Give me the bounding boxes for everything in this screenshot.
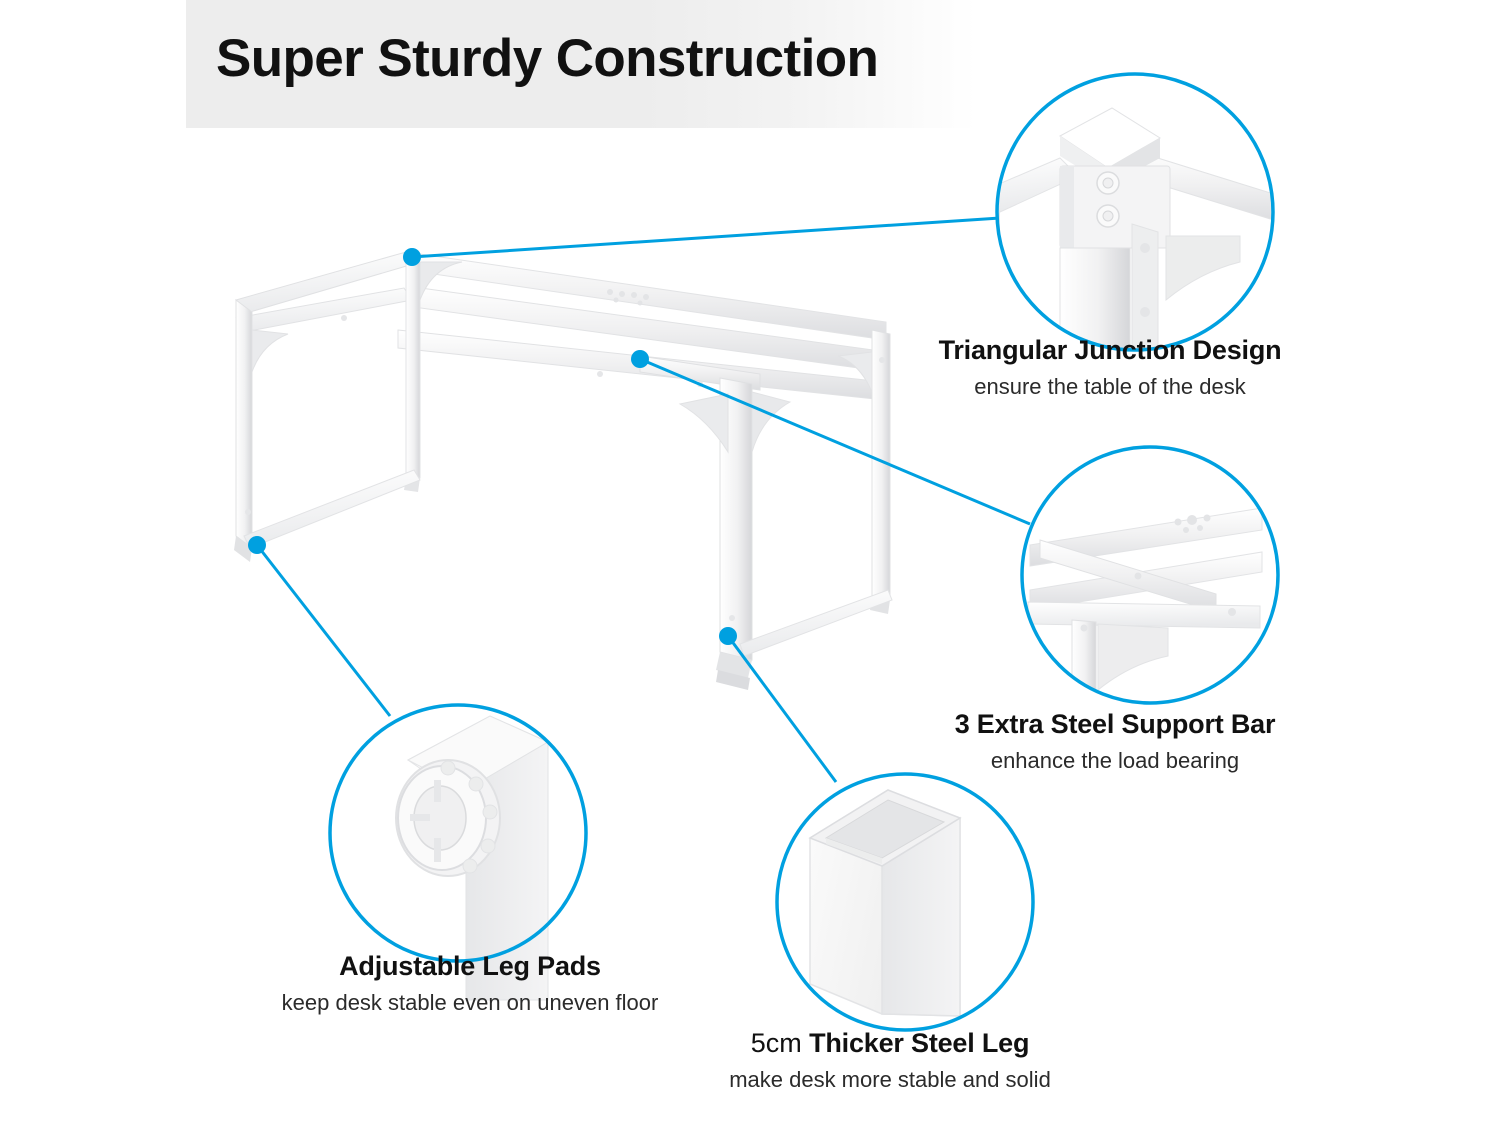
feature-caption-junction: Triangular Junction Design ensure the ta…: [735, 334, 1485, 401]
feature-subtitle-support: enhance the load bearing: [745, 747, 1485, 776]
feature-title-support: 3 Extra Steel Support Bar: [745, 708, 1485, 742]
connector-pads: [257, 545, 390, 716]
connector-junction: [412, 218, 1000, 257]
desk-frame-illustration: [234, 252, 892, 690]
feature-subtitle-leg: make desk more stable and solid: [495, 1066, 1285, 1095]
anchor-dot-pads: [248, 536, 266, 554]
anchor-dot-support: [631, 350, 649, 368]
callout-support: [1020, 445, 1282, 707]
infographic-canvas: Super Sturdy Construction: [0, 0, 1500, 1125]
feature-caption-leg: 5cm Thicker Steel Leg make desk more sta…: [495, 1027, 1285, 1094]
feature-subtitle-junction: ensure the table of the desk: [735, 373, 1485, 402]
adjustable-pad-icon: [396, 760, 500, 876]
feature-caption-support: 3 Extra Steel Support Bar enhance the lo…: [745, 708, 1485, 775]
feature-title-leg-lead: 5cm: [751, 1028, 802, 1058]
feature-title-leg: 5cm Thicker Steel Leg: [495, 1027, 1285, 1061]
callout-junction: [985, 72, 1280, 354]
feature-subtitle-pads: keep desk stable even on uneven floor: [75, 989, 865, 1018]
feature-caption-pads: Adjustable Leg Pads keep desk stable eve…: [75, 950, 865, 1017]
feature-title-leg-main: Thicker Steel Leg: [809, 1028, 1029, 1058]
feature-title-pads: Adjustable Leg Pads: [75, 950, 865, 984]
anchor-dot-junction: [403, 248, 421, 266]
feature-title-junction: Triangular Junction Design: [735, 334, 1485, 368]
anchor-dot-leg: [719, 627, 737, 645]
